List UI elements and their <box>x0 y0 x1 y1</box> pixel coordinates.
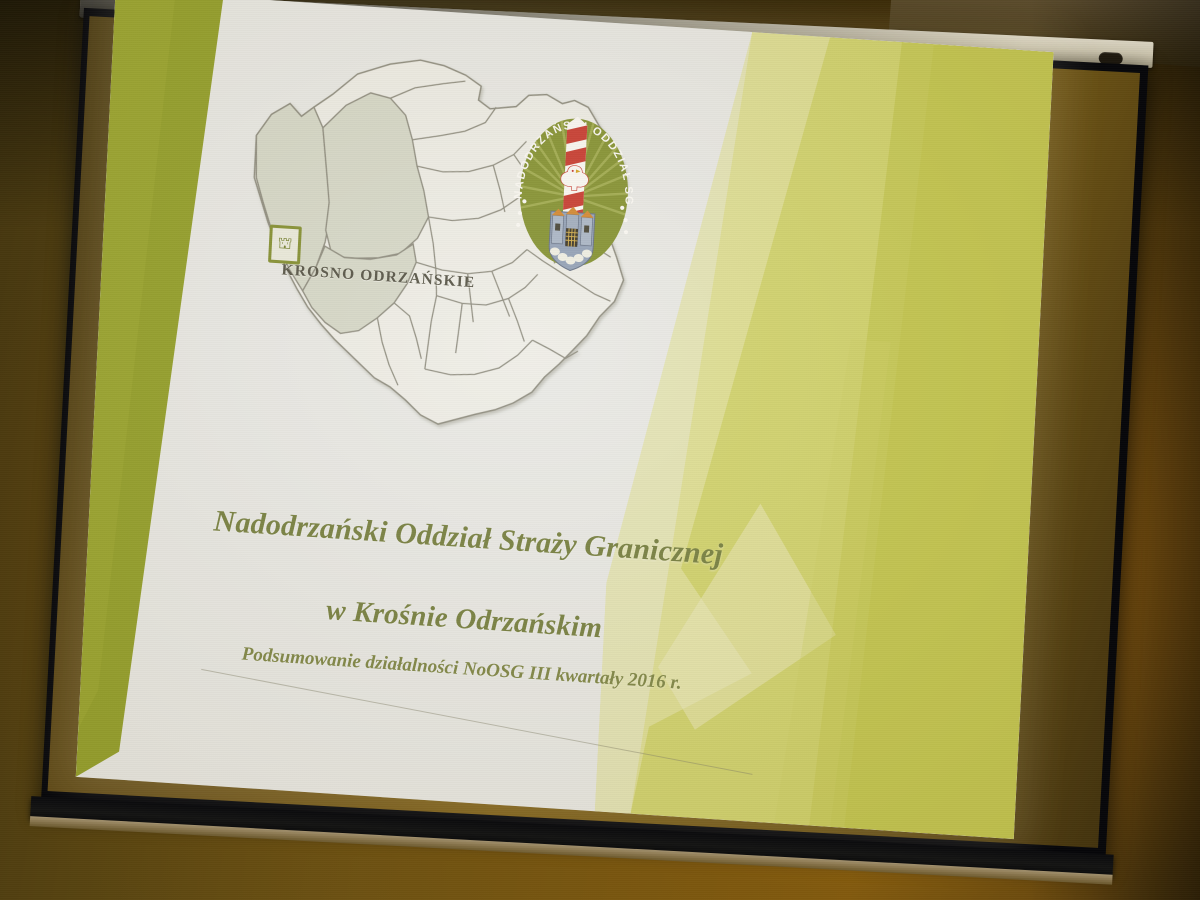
krosno-map-marker[interactable]: ⛫ <box>268 225 302 265</box>
photo-scene: ⛫ KROSNO ODRZAŃSKIE <box>0 0 1200 900</box>
fortress-icon: ⛫ <box>277 236 292 253</box>
emblem-svg: NADODRZAŃSKI ODDZIAŁ SG <box>500 100 649 285</box>
nadodrzanski-sg-emblem: NADODRZAŃSKI ODDZIAŁ SG <box>500 100 649 285</box>
projected-slide: ⛫ KROSNO ODRZAŃSKIE <box>76 0 1054 839</box>
slide-accent-facets-right <box>595 24 1054 839</box>
projector-screen-assembly: ⛫ KROSNO ODRZAŃSKIE <box>15 0 1171 897</box>
